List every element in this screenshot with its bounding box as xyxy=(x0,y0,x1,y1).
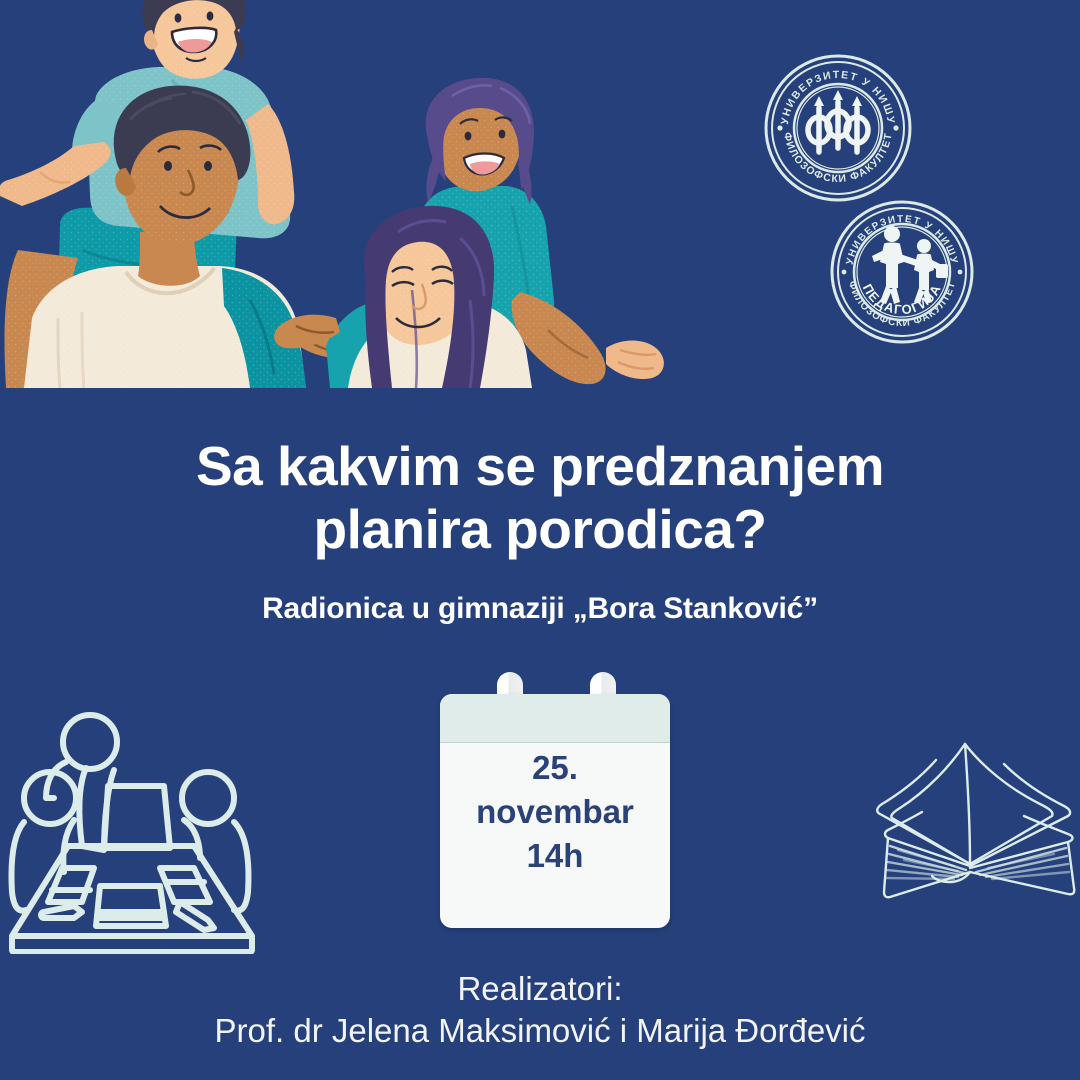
title-line-1: Sa kakvim se predznanjem xyxy=(196,435,884,497)
event-date-calendar: 25. novembar 14h xyxy=(440,694,670,928)
calendar-header-band xyxy=(440,694,670,743)
calendar-date-text: 25. novembar 14h xyxy=(440,746,670,878)
open-book-icon xyxy=(858,716,1080,916)
poster-canvas: УНИВЕРЗИТЕТ У НИШУ ФИЛОЗОФСКИ ФАКУЛТЕТ xyxy=(0,0,1080,1080)
credits-block: Realizatori: Prof. dr Jelena Maksimović … xyxy=(0,968,1080,1052)
calendar-month: novembar xyxy=(440,790,670,834)
people-at-table-icon xyxy=(8,706,284,954)
poster-subtitle: Radionica u gimnaziji „Bora Stanković” xyxy=(0,592,1080,626)
pedagogy-department-seal-logo: УНИВЕРЗИТЕТ У НИШУ ФИЛОЗОФСКИ ФАКУЛТЕТ П… xyxy=(828,198,976,346)
title-line-2: planira porodica? xyxy=(0,498,1080,561)
calendar-card: 25. novembar 14h xyxy=(440,694,670,928)
poster-title: Sa kakvim se predznanjem planira porodic… xyxy=(0,435,1080,560)
credits-label: Realizatori: xyxy=(457,970,622,1007)
faculty-of-philosophy-seal-logo: УНИВЕРЗИТЕТ У НИШУ ФИЛОЗОФСКИ ФАКУЛТЕТ xyxy=(762,52,914,204)
calendar-day: 25. xyxy=(440,746,670,790)
credits-names: Prof. dr Jelena Maksimović i Marija Đorđ… xyxy=(0,1010,1080,1052)
calendar-time: 14h xyxy=(440,834,670,878)
family-group-illustration xyxy=(0,0,680,388)
